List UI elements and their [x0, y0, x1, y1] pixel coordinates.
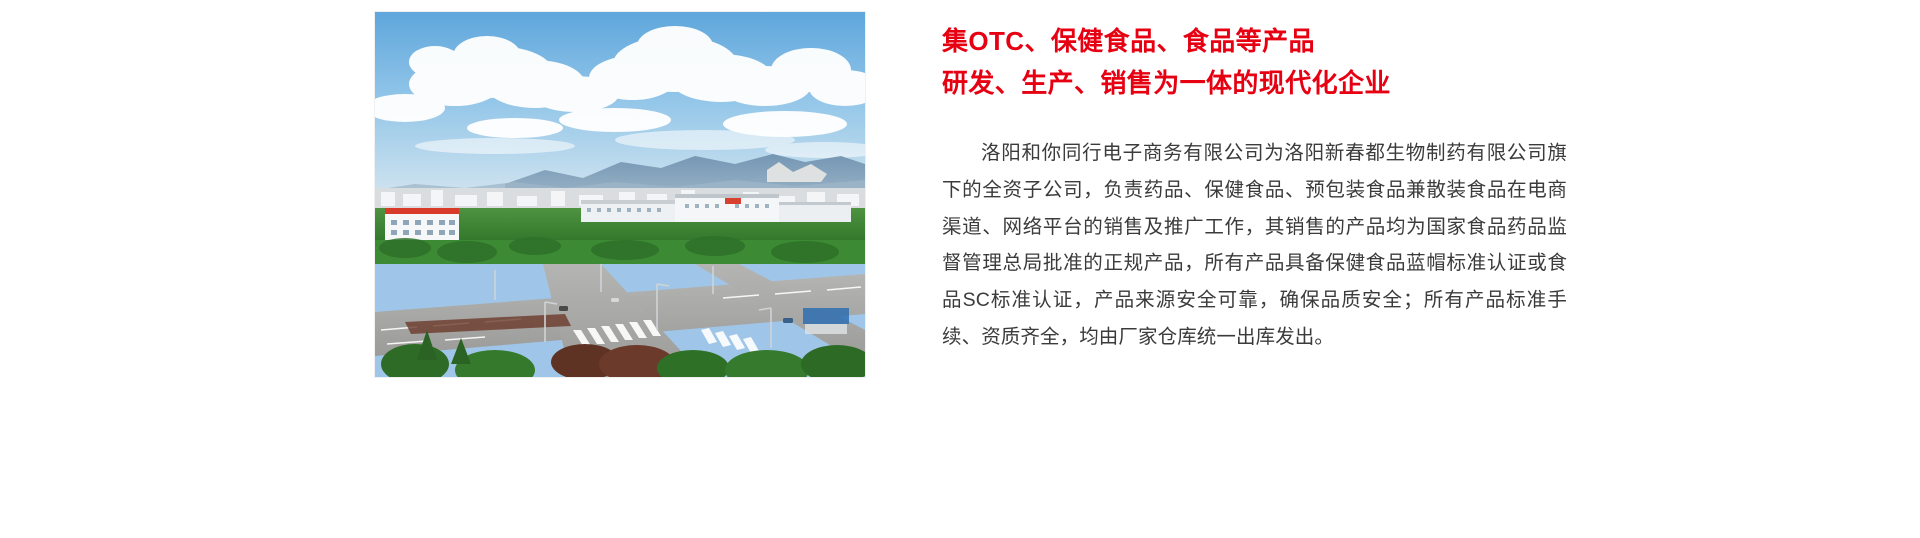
headline-line-2: 研发、生产、销售为一体的现代化企业	[942, 62, 1602, 104]
content-row: 集OTC、保健食品、食品等产品 研发、生产、销售为一体的现代化企业 洛阳和你同行…	[0, 0, 1920, 538]
company-park-photo-image	[375, 12, 865, 377]
photo-column	[375, 0, 874, 377]
company-park-photo	[375, 12, 865, 377]
company-description-paragraph: 洛阳和你同行电子商务有限公司为洛阳新春都生物制药有限公司旗下的全资子公司，负责药…	[942, 104, 1567, 355]
headline-line-1: 集OTC、保健食品、食品等产品	[942, 20, 1602, 62]
text-column: 集OTC、保健食品、食品等产品 研发、生产、销售为一体的现代化企业 洛阳和你同行…	[874, 0, 1602, 355]
about-company-section: 集OTC、保健食品、食品等产品 研发、生产、销售为一体的现代化企业 洛阳和你同行…	[0, 0, 1920, 538]
section-headline: 集OTC、保健食品、食品等产品 研发、生产、销售为一体的现代化企业	[942, 20, 1602, 104]
